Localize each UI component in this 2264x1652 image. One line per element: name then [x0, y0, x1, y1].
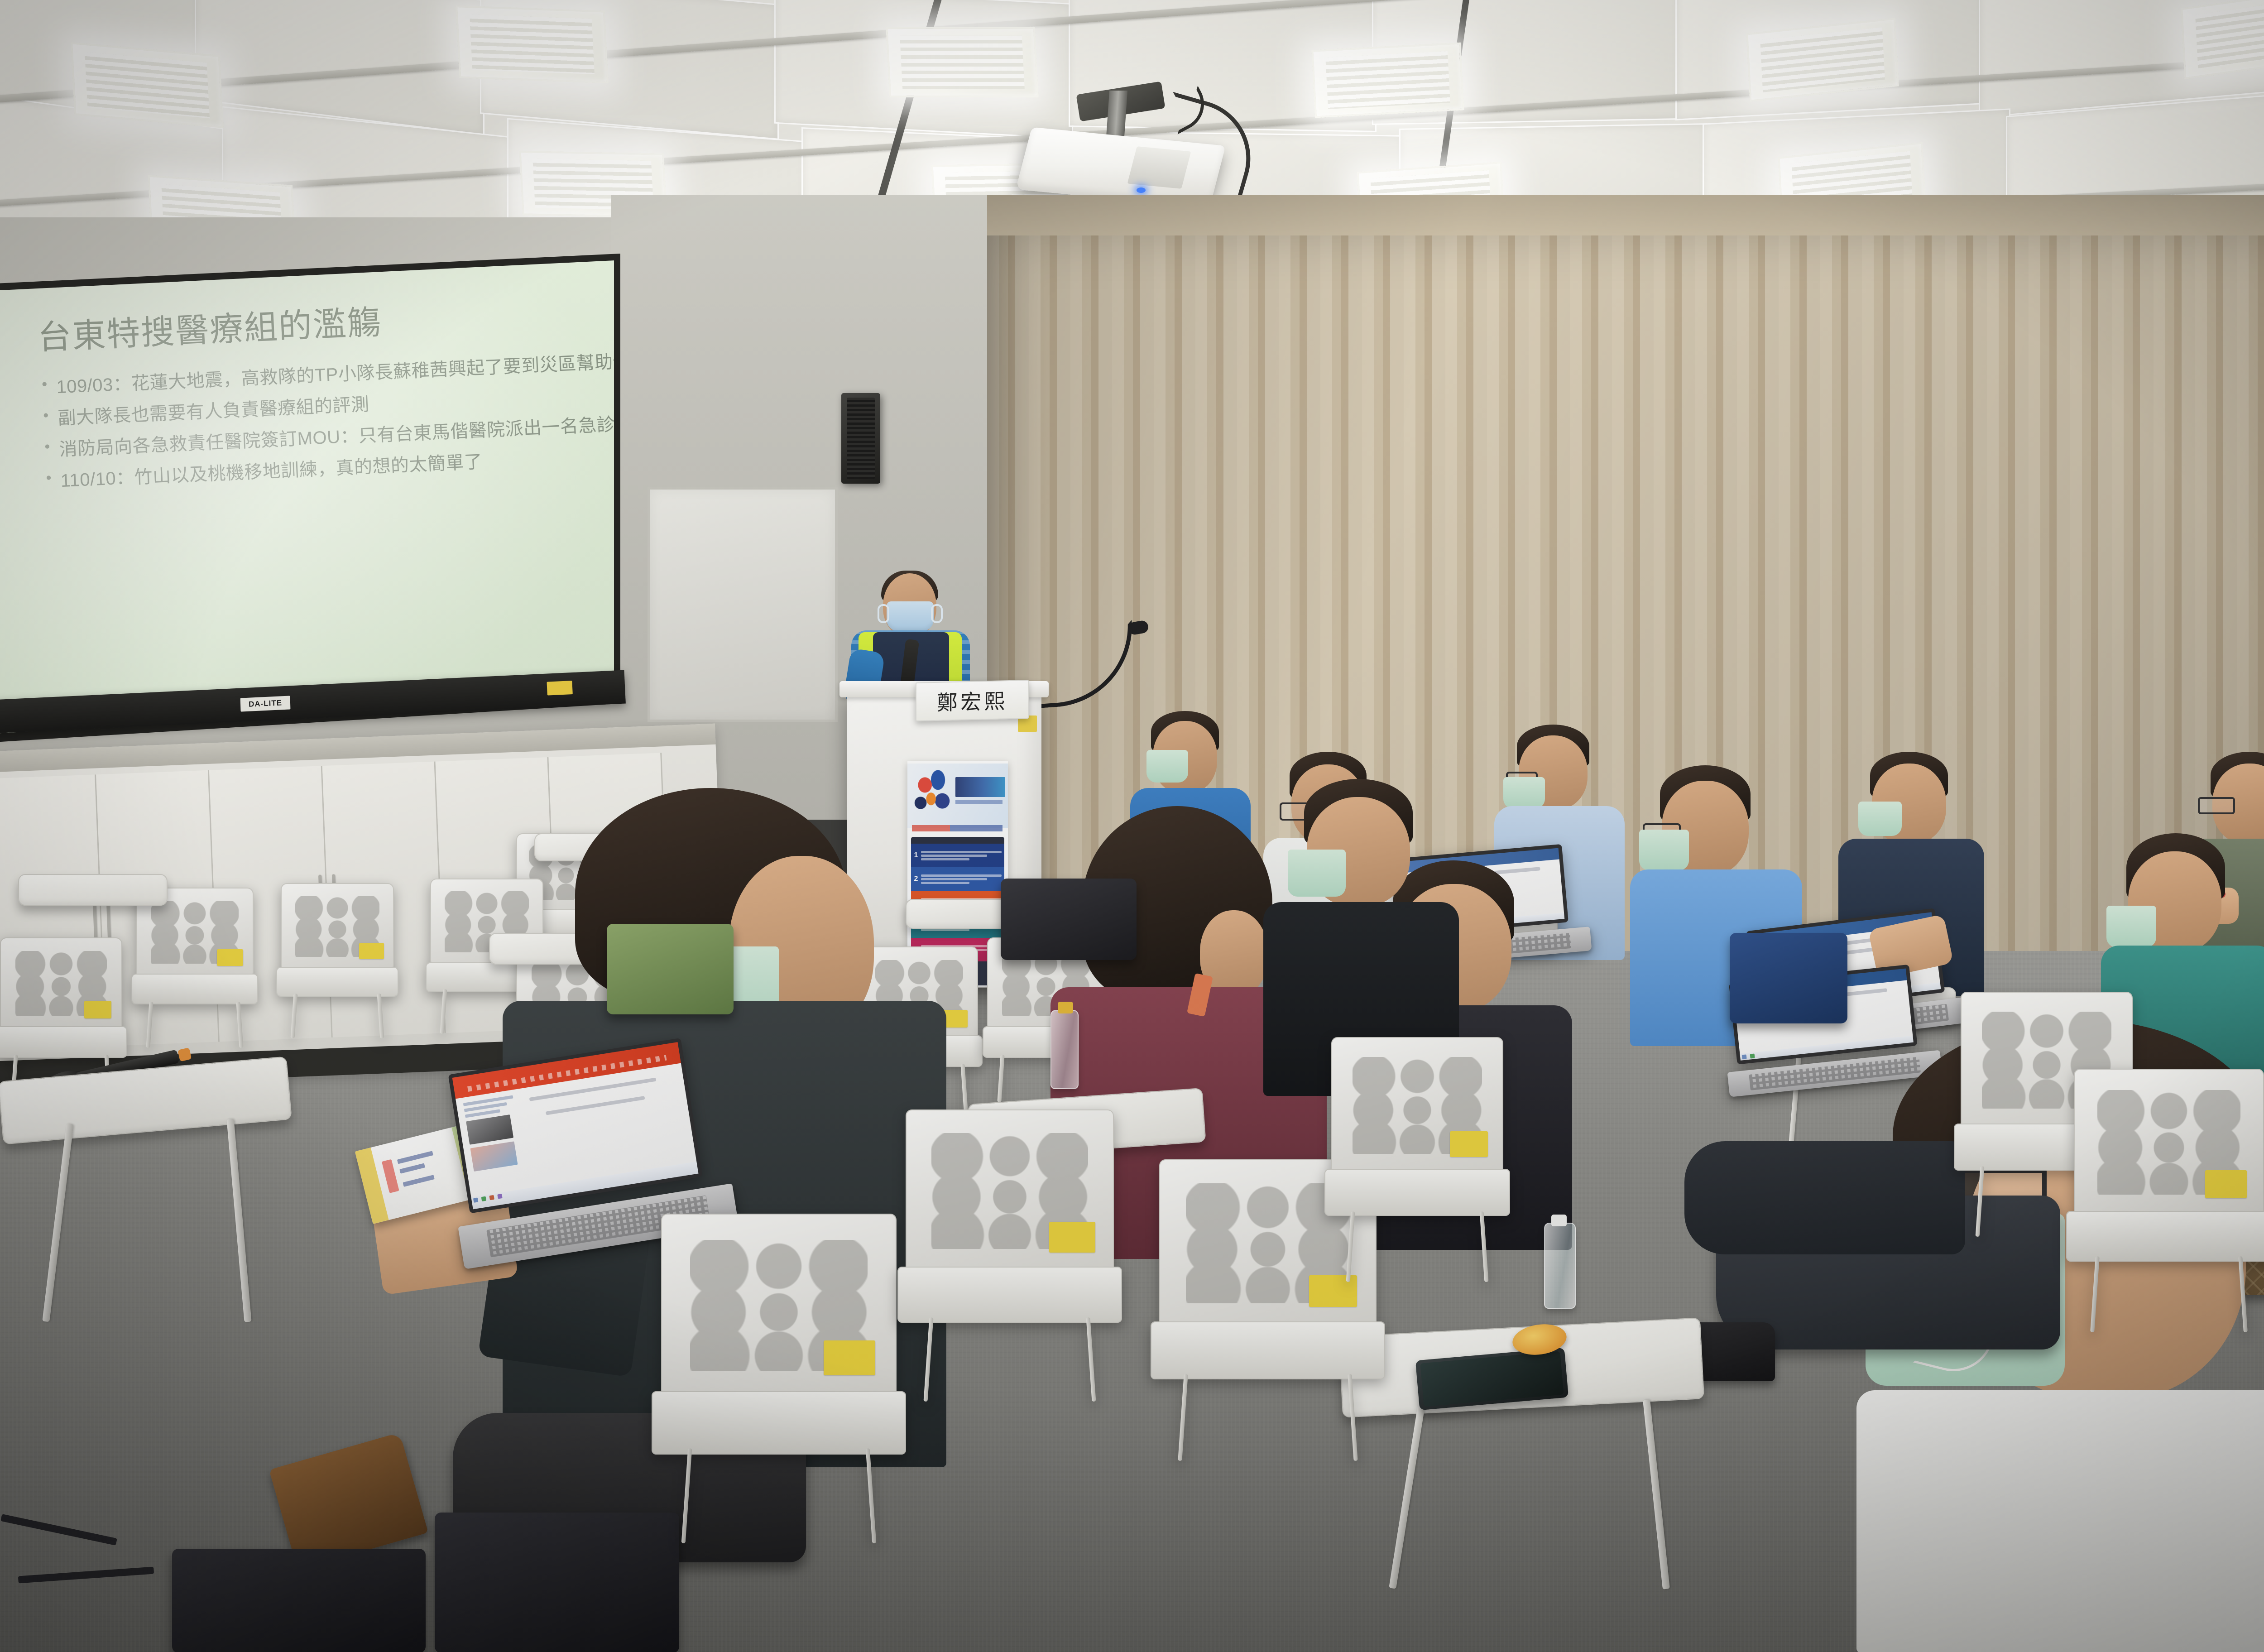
backpack[interactable] — [172, 1549, 426, 1652]
laptop-slide-panel — [463, 1092, 528, 1203]
speaker-nameplate: 鄭宏熙 — [916, 680, 1029, 721]
ceiling-light-panel — [71, 42, 224, 128]
poster-title-block — [955, 777, 1005, 797]
chair[interactable] — [136, 888, 254, 1042]
speaker-name: 鄭宏熙 — [937, 685, 1007, 716]
projection-screen: 台東特搜醫療組的濫觴 109/03：花蓮大地震，高救隊的TP小隊長蘇稚茜興起了要… — [0, 254, 620, 743]
ceiling-light-panel — [2181, 0, 2264, 79]
ceiling-light-panel — [1311, 42, 1464, 118]
lecture-room-photo: 台東特搜醫療組的濫觴 109/03：花蓮大地震，高救隊的TP小隊長蘇稚茜興起了要… — [0, 0, 2264, 1652]
ceiling-light-panel — [456, 5, 609, 83]
ceiling-light-panel — [886, 27, 1039, 97]
backpack[interactable] — [1730, 933, 1847, 1023]
slide-title: 台東特搜醫療組的濫觴 — [37, 294, 589, 357]
slide-content: 台東特搜醫療組的濫觴 109/03：花蓮大地震，高救隊的TP小隊長蘇稚茜興起了要… — [0, 254, 620, 742]
tablet-arm-desk[interactable] — [18, 874, 168, 906]
chair[interactable] — [2074, 1069, 2264, 1322]
tote-bag[interactable] — [607, 924, 734, 1014]
chair[interactable] — [281, 883, 394, 1032]
chair-foreground[interactable] — [661, 1214, 897, 1531]
water-bottle[interactable] — [1050, 1010, 1079, 1089]
projector-vent — [1127, 146, 1191, 189]
wall-speaker — [841, 393, 880, 484]
bag[interactable] — [1001, 879, 1137, 960]
backpack[interactable] — [435, 1513, 679, 1652]
presenter-face-mask — [887, 601, 934, 631]
whiteboard — [648, 487, 838, 722]
water-bottle[interactable] — [1544, 1223, 1576, 1309]
slide-bullet-list: 109/03：花蓮大地震，高救隊的TP小隊長蘇稚茜興起了要到災區幫助傷病患的發想… — [39, 351, 595, 495]
poster-subtitle-block — [955, 800, 1002, 804]
screen-pull-tab — [547, 681, 572, 696]
chair-foreground[interactable] — [906, 1109, 1114, 1390]
screen-brand-label: DA-LITE — [240, 696, 291, 711]
trousers-leg — [1684, 1141, 1965, 1254]
projector-power-led — [1137, 187, 1146, 193]
chair[interactable] — [1331, 1037, 1503, 1273]
